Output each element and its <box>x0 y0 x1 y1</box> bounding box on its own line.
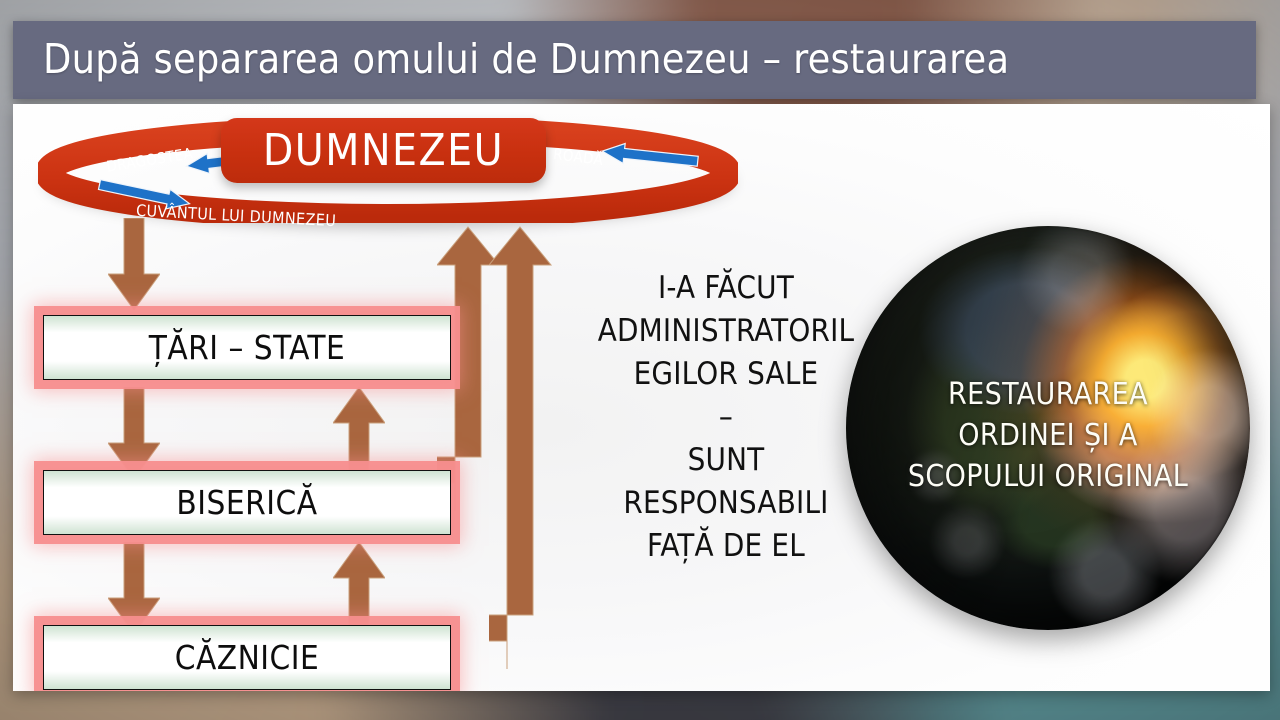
center-line-3: EGILOR SALE <box>571 353 881 396</box>
dumnezeu-ring-group: DRAGOSTEA ROADĂ CUVÂNTUL LUI DUMNEZEU DU… <box>38 118 738 223</box>
flow-box-label: ȚĂRI – STATE <box>149 328 346 367</box>
flow-box-label: CĂZNICIE <box>175 638 320 677</box>
down-arrow-1-icon <box>108 218 160 310</box>
page-title: După separarea omului de Dumnezeu – rest… <box>43 35 1009 83</box>
flow-box-label: BISERICĂ <box>176 483 317 522</box>
globe-group: RESTAURAREA ORDINEI ȘI A SCOPULUI ORIGIN… <box>846 226 1250 630</box>
flow-box-biserica[interactable]: BISERICĂ <box>43 470 451 535</box>
slide-title-bar: După separarea omului de Dumnezeu – rest… <box>13 21 1256 99</box>
dumnezeu-box: DUMNEZEU <box>221 118 546 183</box>
down-arrow-3-icon <box>108 542 160 634</box>
globe-line-1: RESTAURAREA <box>846 374 1250 415</box>
slide-canvas: După separarea omului de Dumnezeu – rest… <box>0 0 1280 720</box>
arrow-left-roada-icon <box>601 141 699 171</box>
center-line-1: I-A FĂCUT <box>571 267 881 310</box>
center-line-5: SUNT <box>571 439 881 482</box>
up-arrow-1-icon <box>333 387 385 477</box>
slide-content-panel: DRAGOSTEA ROADĂ CUVÂNTUL LUI DUMNEZEU DU… <box>13 104 1270 691</box>
up-arrow-2-icon <box>333 542 385 632</box>
center-statement-text: I-A FĂCUT ADMINISTRATORIL EGILOR SALE – … <box>571 267 881 568</box>
globe-caption-text: RESTAURAREA ORDINEI ȘI A SCOPULUI ORIGIN… <box>846 374 1250 497</box>
center-line-2: ADMINISTRATORIL <box>571 310 881 353</box>
globe-line-2: ORDINEI ȘI A <box>846 415 1250 456</box>
center-line-4: – <box>571 396 881 439</box>
flow-box-caznicie[interactable]: CĂZNICIE <box>43 625 451 690</box>
globe-line-3: SCOPULUI ORIGINAL <box>846 456 1250 497</box>
center-line-7: FAȚĂ DE EL <box>571 525 881 568</box>
center-line-6: RESPONSABILI <box>571 482 881 525</box>
dumnezeu-label: DUMNEZEU <box>263 125 504 176</box>
flow-box-tari-state[interactable]: ȚĂRI – STATE <box>43 315 451 380</box>
down-arrow-2-icon <box>108 387 160 479</box>
